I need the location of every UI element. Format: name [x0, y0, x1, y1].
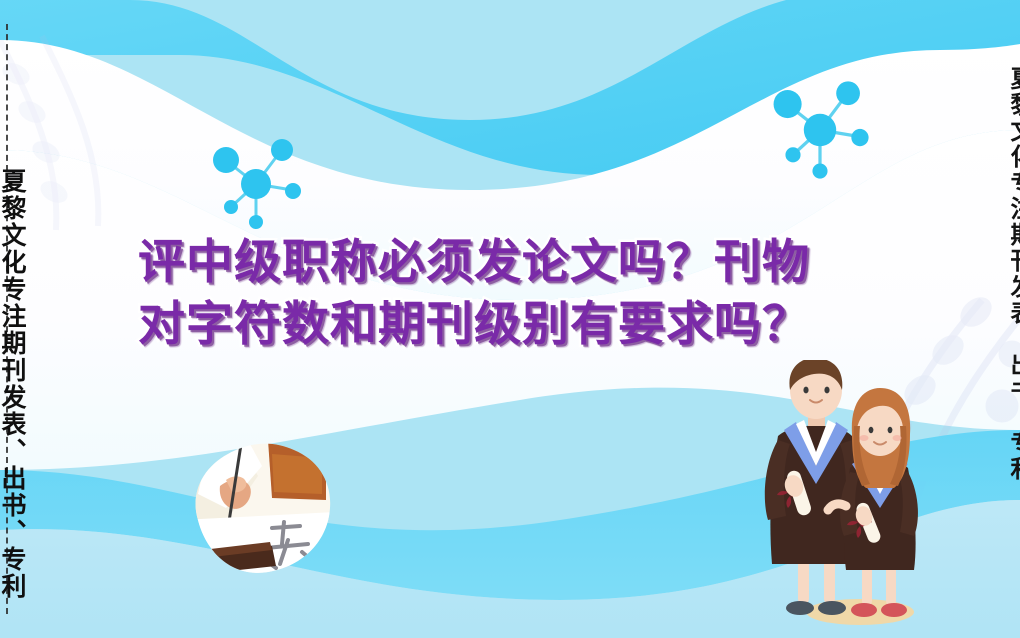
two-graduates-illustration [742, 360, 938, 630]
calligraphy-writing-illustration [176, 424, 348, 592]
poster-canvas: 评中级职称必须发论文吗？刊物 对字符数和期刊级别有要求吗？ 夏黎文化专注期刊发表… [0, 0, 1020, 638]
page-title-line-2: 对字符数和期刊级别有要求吗？ [138, 294, 938, 356]
graduate-female [828, 388, 918, 617]
molecule-icon [206, 134, 306, 234]
side-text-left: 夏黎文化专注期刊发表、出书、专利 [0, 168, 25, 600]
page-title: 评中级职称必须发论文吗？刊物 对字符数和期刊级别有要求吗？ [138, 232, 938, 356]
molecule-icon [766, 76, 874, 184]
page-title-line-1: 评中级职称必须发论文吗？刊物 [138, 232, 938, 294]
side-text-right: 夏黎文化专注期刊发表、出书、专利 [1008, 66, 1020, 482]
